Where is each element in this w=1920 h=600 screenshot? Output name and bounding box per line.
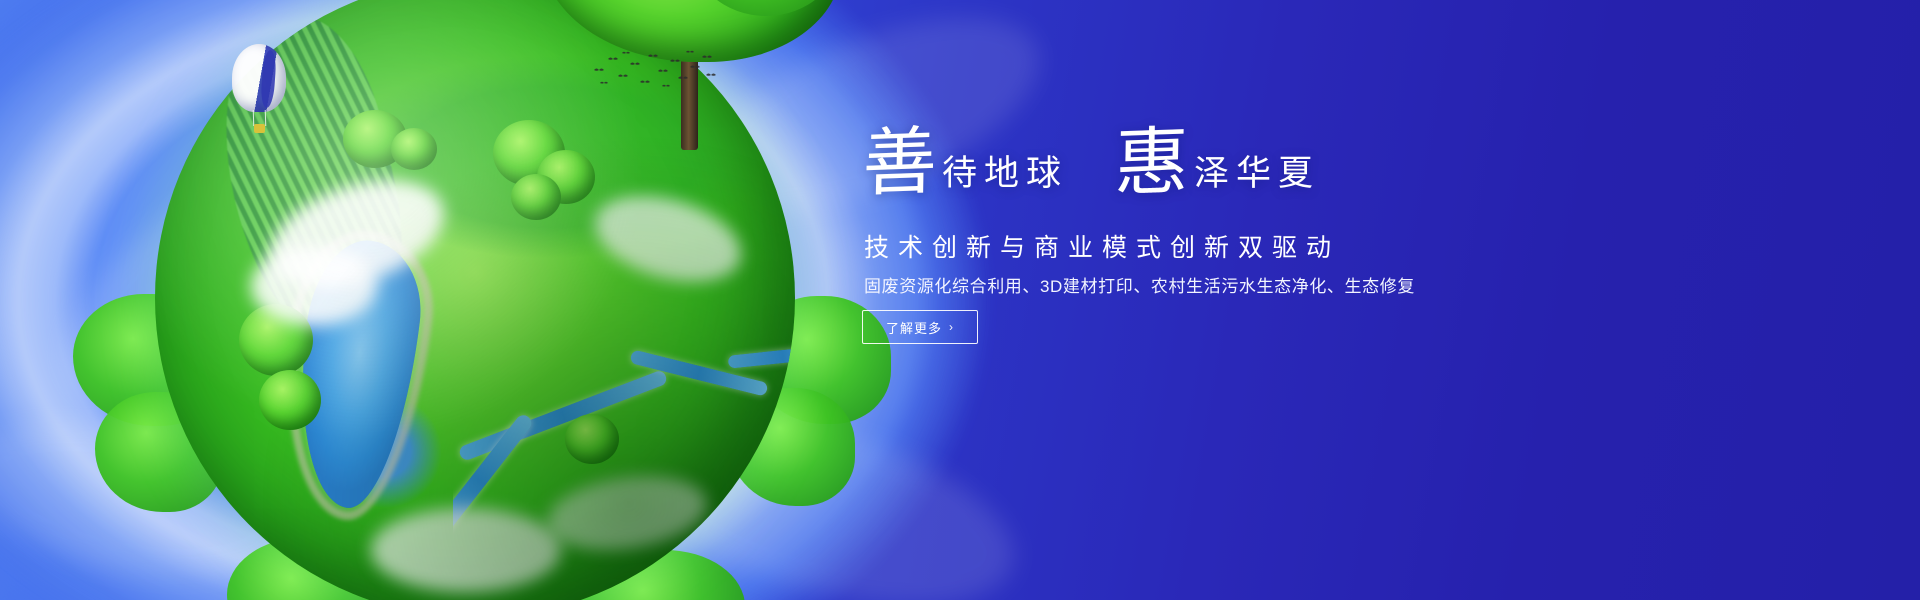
learn-more-label: 了解更多	[886, 318, 942, 337]
balloon-basket	[254, 124, 265, 133]
headline-char-primary-1: 善	[862, 125, 937, 202]
banner-copy: 善待地球惠泽华夏 技术创新与商业模式创新双驱动 固废资源化综合利用、3D建材打印…	[862, 0, 1562, 600]
balloon-envelope	[232, 44, 286, 112]
subheadline: 技术创新与商业模式创新双驱动	[864, 228, 1340, 264]
description-text: 固废资源化综合利用、3D建材打印、农村生活污水生态净化、生态修复	[864, 272, 1415, 297]
learn-more-button[interactable]: 了解更多 ›	[862, 310, 978, 344]
page-title: 善待地球惠泽华夏	[862, 128, 1562, 216]
headline-text-1: 待地球	[936, 156, 1068, 191]
bird-flock-icon	[592, 50, 722, 94]
chevron-right-icon: ›	[949, 321, 954, 333]
headline-text-2: 泽华夏	[1188, 156, 1320, 191]
hero-banner: 善待地球惠泽华夏 技术创新与商业模式创新双驱动 固废资源化综合利用、3D建材打印…	[0, 0, 1920, 600]
headline-char-primary-2: 惠	[1114, 125, 1189, 202]
hot-air-balloon	[232, 44, 286, 140]
